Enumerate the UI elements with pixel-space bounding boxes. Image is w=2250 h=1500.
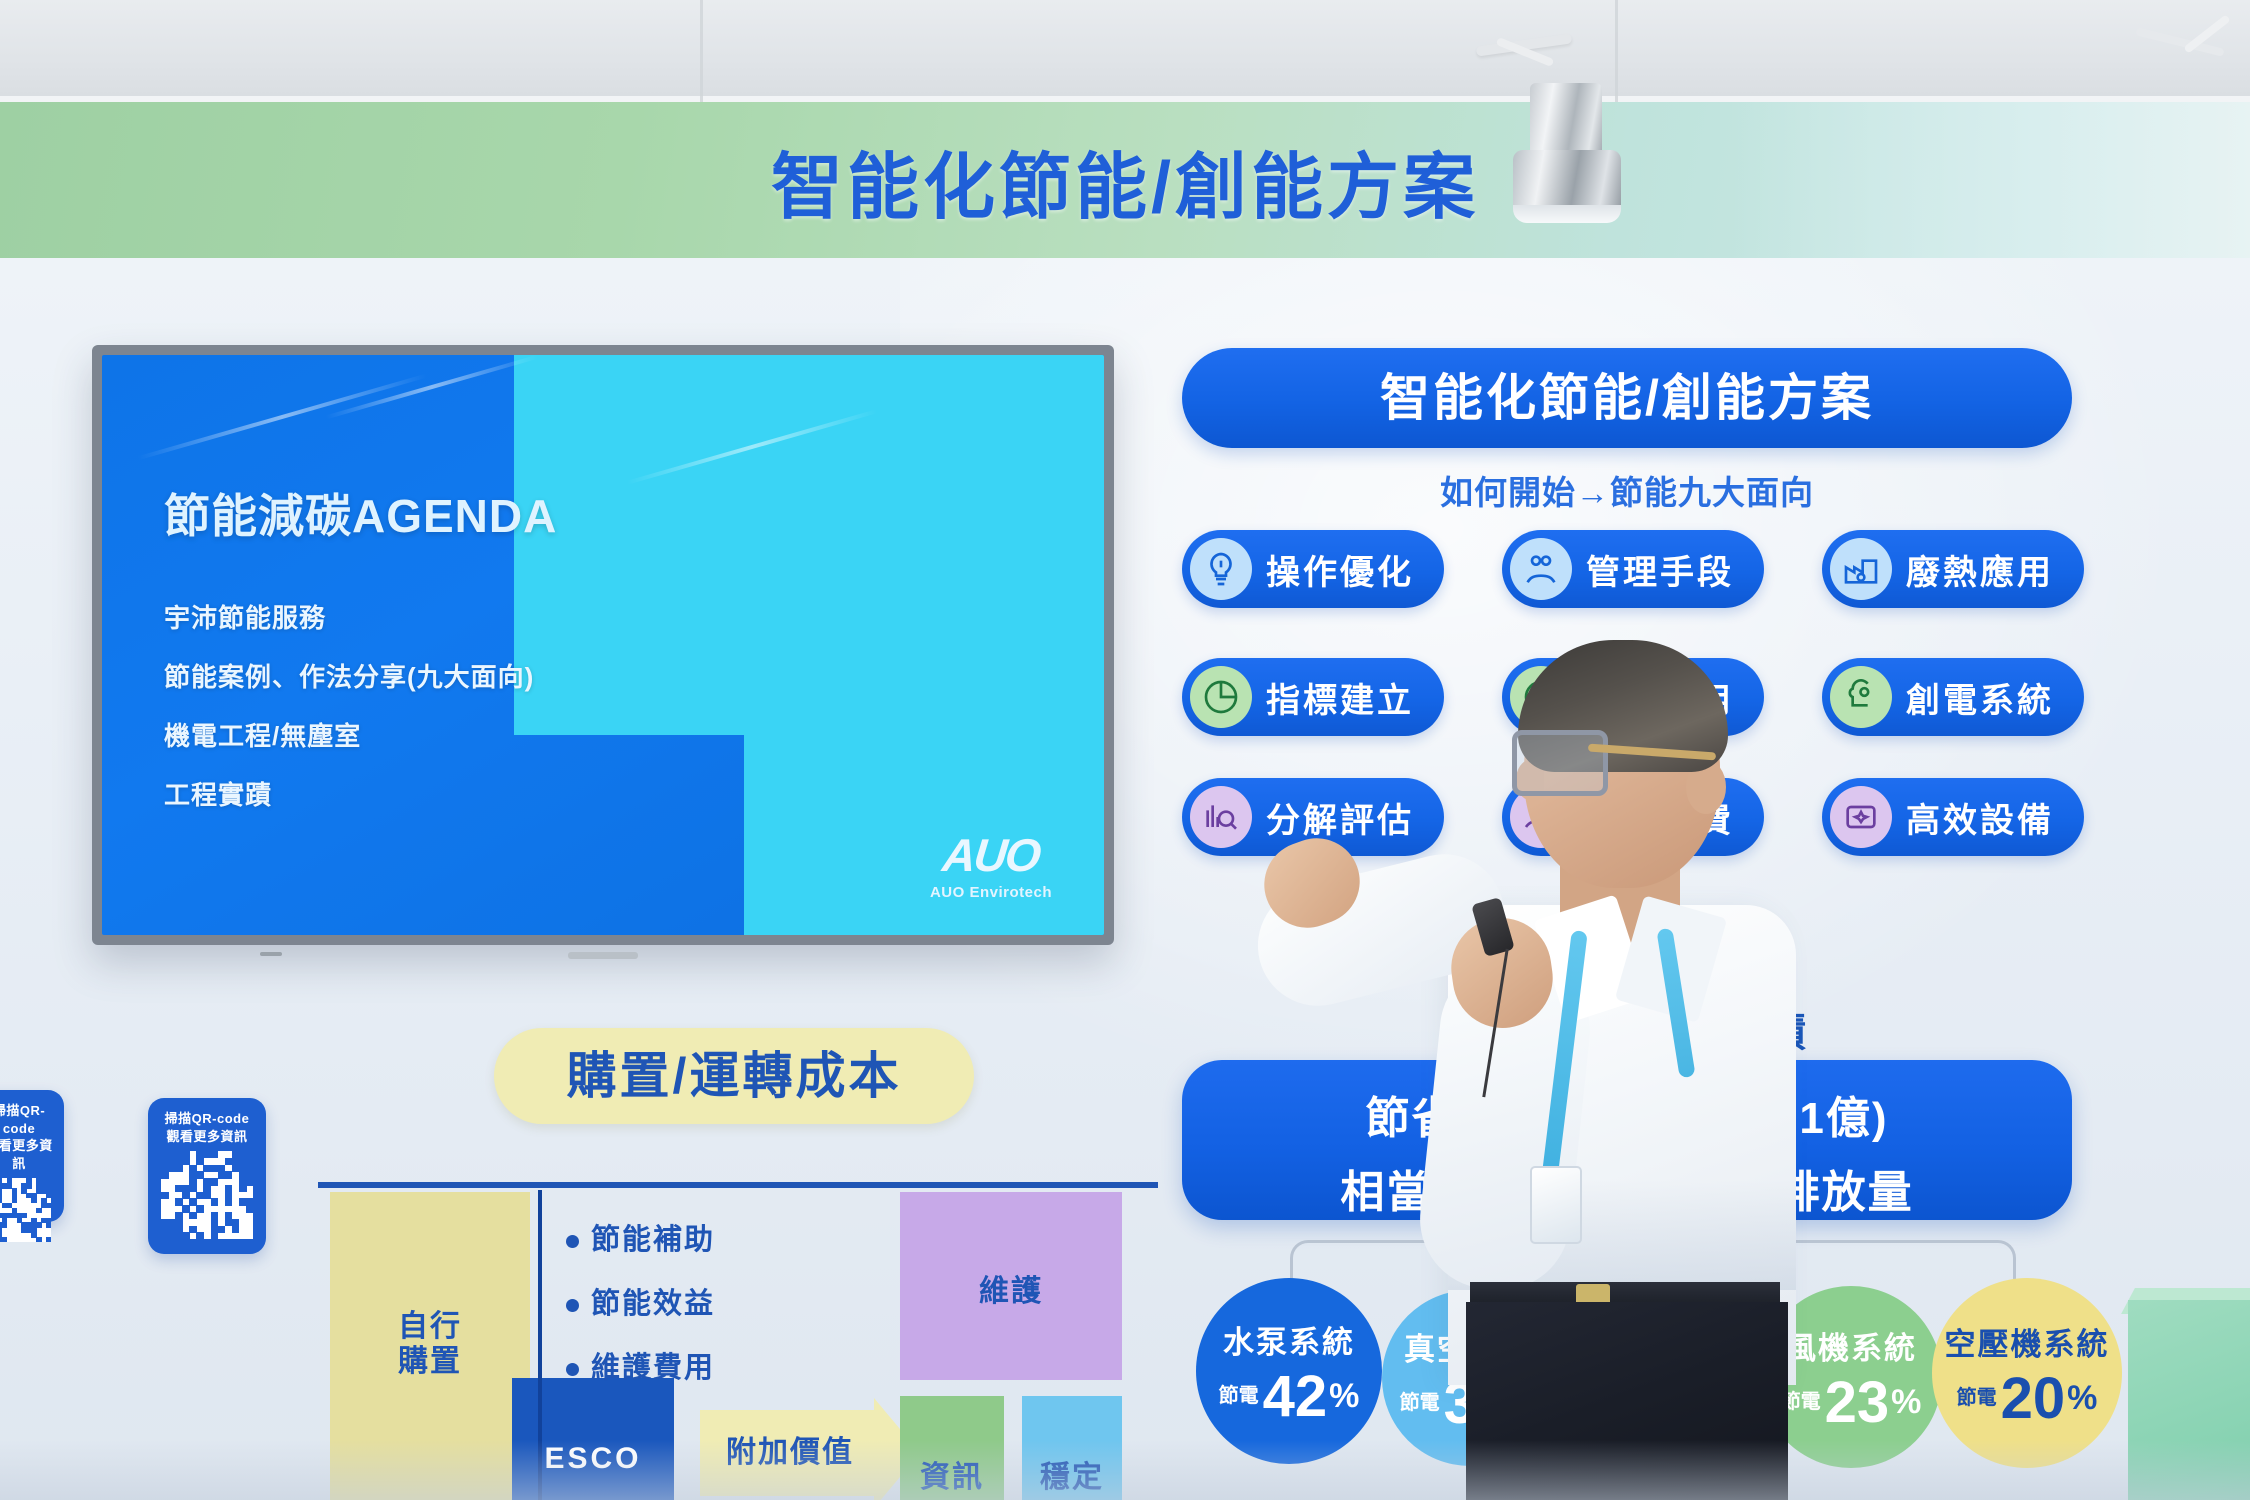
qr-card-left[interactable]: 掃描QR-code 觀看更多資訊 (0, 1090, 64, 1222)
block-label: 維護 (900, 1266, 1122, 1310)
pill-label: 高效設備 (1906, 793, 2054, 842)
pill-label: 操作優化 (1266, 545, 1414, 594)
list-item: 節能案例、作法分享(九大面向) (164, 657, 534, 694)
display-stand-bar (568, 952, 638, 959)
brain-gear-icon (1830, 666, 1892, 728)
list-item: 機電工程/無塵室 (164, 716, 534, 753)
stat-value-group: 節電 20 % (1957, 1370, 2098, 1428)
bullet-dot (566, 1235, 579, 1248)
stat-value: 42 (1263, 1368, 1328, 1426)
stat-unit: % (1329, 1377, 1359, 1416)
presenter-badge (1530, 1166, 1582, 1244)
pill-waste-heat-use[interactable]: 廢熱應用 (1822, 530, 2084, 608)
auo-logo-mark: AUO (927, 828, 1055, 882)
stat-system-label: 空壓機系統 (1945, 1319, 2110, 1364)
list-item: 節能補助 (566, 1216, 715, 1258)
stat-system-label: 水泵系統 (1223, 1317, 1355, 1362)
bullet-dot (566, 1363, 579, 1376)
qr-card-right[interactable]: 掃描QR-code 觀看更多資訊 (148, 1098, 266, 1254)
presentation-display: 節能減碳AGENDA 宇沛節能服務 節能案例、作法分享(九大面向) 機電工程/無… (92, 345, 1114, 945)
stat-value: 23 (1825, 1374, 1890, 1432)
board-header-text: 智能化節能/創能方案 (1182, 348, 2072, 448)
slide-streak (137, 374, 426, 461)
exhibition-photo-scene: 智能化節能/創能方案 節能減碳AGENDA 宇沛節能服務 節能案例、作法分享(九… (0, 0, 2250, 1500)
pill-label: 創電系統 (1906, 673, 2054, 722)
qr-card-line-1: 掃描QR-code (0, 1102, 54, 1137)
pill-label: 分解評估 (1266, 793, 1414, 842)
pill-operation-optimization[interactable]: 操作優化 (1182, 530, 1444, 608)
stat-small-label: 節電 (1219, 1387, 1259, 1406)
slide-streak (326, 355, 539, 419)
display-indicator (260, 952, 282, 956)
pie-chart-icon (1190, 666, 1252, 728)
slide-agenda-list: 宇沛節能服務 節能案例、作法分享(九大面向) 機電工程/無塵室 工程實蹟 (164, 598, 534, 834)
factory-gear-icon (1830, 538, 1892, 600)
stat-unit: % (2067, 1379, 2097, 1418)
cost-benefit-list: 節能補助 節能效益 維護費用 (566, 1216, 715, 1408)
magnifier-chart-icon (1190, 786, 1252, 848)
pill-label: 管理手段 (1586, 545, 1734, 594)
list-item: 節能效益 (566, 1280, 715, 1322)
pill-high-efficiency-equipment[interactable]: 高效設備 (1822, 778, 2084, 856)
pill-management-method[interactable]: 管理手段 (1502, 530, 1764, 608)
qr-code-image (0, 1178, 51, 1242)
chart-top-rule (318, 1182, 1158, 1188)
stat-value-group: 節電 42 % (1219, 1368, 1360, 1426)
cost-section-title-pill: 購置/運轉成本 (494, 1028, 974, 1124)
list-item: 工程實蹟 (164, 775, 534, 812)
qr-card-line-1: 掃描QR-code (158, 1110, 256, 1128)
bullet-dot (566, 1299, 579, 1312)
slide-cyan-shape-upper (514, 355, 1104, 735)
people-hand-icon (1510, 538, 1572, 600)
qr-code-image (161, 1151, 253, 1239)
pill-power-generation-system[interactable]: 創電系統 (1822, 658, 2084, 736)
qr-card-line-2: 觀看更多資訊 (158, 1128, 256, 1146)
stat-system-label: 風機系統 (1785, 1323, 1917, 1368)
sparkle-panel-icon (1830, 786, 1892, 848)
presenter-glasses (1512, 730, 1608, 796)
display-screen: 節能減碳AGENDA 宇沛節能服務 節能案例、作法分享(九大面向) 機電工程/無… (102, 355, 1104, 935)
stat-value-group: 節電 23 % (1781, 1374, 1922, 1432)
auo-logo: AUO AUO Envirotech (930, 828, 1052, 901)
stat-circle-water-pump: 水泵系統 節電 42 % (1196, 1278, 1382, 1464)
board-header-pill: 智能化節能/創能方案 (1182, 348, 2072, 448)
stat-small-label: 節電 (1957, 1389, 1997, 1408)
stat-small-label: 節電 (1400, 1394, 1440, 1413)
bar-label-self-purchase: 自行購置 (330, 1310, 530, 1379)
list-item: 維護費用 (566, 1344, 715, 1386)
pill-label: 指標建立 (1266, 673, 1414, 722)
stat-value: 20 (2001, 1370, 2066, 1428)
block-maintenance: 維護 (900, 1192, 1122, 1380)
pill-label: 廢熱應用 (1906, 545, 2054, 594)
slide-title: 節能減碳AGENDA (164, 480, 557, 546)
banner-title: 智能化節能/創能方案 (0, 128, 2250, 233)
cost-section-title: 購置/運轉成本 (494, 1028, 974, 1124)
spotlight-rim (1513, 205, 1621, 223)
pill-indicator-setup[interactable]: 指標建立 (1182, 658, 1444, 736)
auo-logo-subtitle: AUO Envirotech (930, 884, 1052, 901)
qr-card-line-2: 觀看更多資訊 (0, 1137, 54, 1172)
board-subtitle: 如何開始→節能九大面向 (1182, 466, 2072, 514)
list-item: 宇沛節能服務 (164, 598, 534, 635)
wall-base-shadow (0, 1440, 2250, 1500)
list-item-label: 維護費用 (591, 1352, 715, 1384)
list-item-label: 節能效益 (591, 1288, 715, 1320)
list-item-label: 節能補助 (591, 1224, 715, 1256)
lightbulb-icon (1190, 538, 1252, 600)
stat-unit: % (1891, 1383, 1921, 1422)
